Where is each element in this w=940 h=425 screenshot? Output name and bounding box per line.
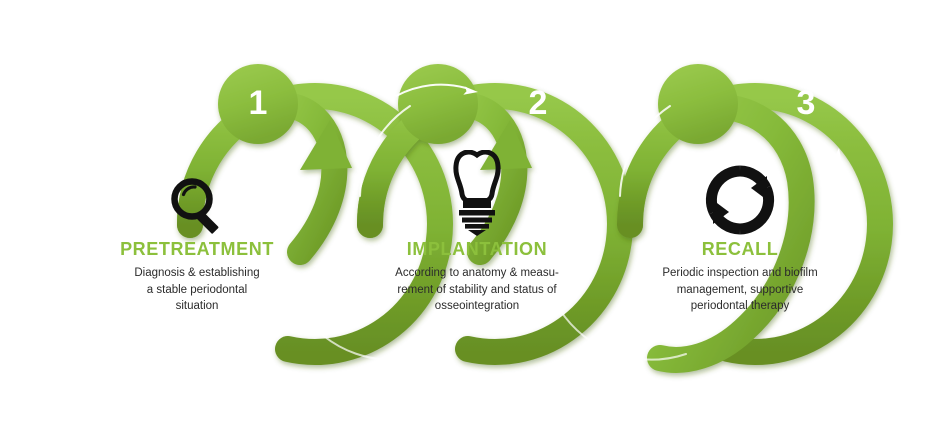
magnifier-icon — [165, 172, 229, 236]
step-badge-number-2: 2 — [518, 86, 558, 120]
step-desc-3: Periodic inspection and biofilm manageme… — [635, 265, 845, 315]
step-title-2: IMPLANTATION — [372, 240, 582, 258]
step-card-implantation: IMPLANTATION According to anatomy & meas… — [372, 150, 582, 315]
step-desc-line: periodontal therapy — [635, 298, 845, 315]
step-desc-line: situation — [92, 298, 302, 315]
step-desc-line: Periodic inspection and biofilm — [635, 265, 845, 282]
step-desc-line: osseointegration — [372, 298, 582, 315]
step-title-1: PRETREATMENT — [92, 240, 302, 258]
step-title-3: RECALL — [635, 240, 845, 258]
step-card-pretreatment: PRETREATMENT Diagnosis & establishing a … — [92, 150, 302, 315]
step-desc-2: According to anatomy & measu- rement of … — [372, 265, 582, 315]
step-badge-number-1: 1 — [238, 86, 278, 120]
step-desc-line: According to anatomy & measu- — [372, 265, 582, 282]
step-desc-line: a stable periodontal — [92, 282, 302, 299]
step-desc-line: Diagnosis & establishing — [92, 265, 302, 282]
step-icon-wrap-3 — [635, 150, 845, 236]
step-desc-line: management, supportive — [635, 282, 845, 299]
refresh-cycle-icon — [704, 164, 776, 236]
step-badge-number-3: 3 — [786, 86, 826, 120]
step-desc-line: rement of stability and status of — [372, 282, 582, 299]
step-icon-wrap-1 — [92, 150, 302, 236]
step-card-recall: RECALL Periodic inspection and biofilm m… — [635, 150, 845, 315]
step-icon-wrap-2 — [372, 150, 582, 236]
step-desc-1: Diagnosis & establishing a stable period… — [92, 265, 302, 315]
dental-implant-icon — [449, 150, 505, 236]
process-infographic: 1 2 3 PRETREATMENT Diagnosis & establish… — [0, 0, 940, 425]
